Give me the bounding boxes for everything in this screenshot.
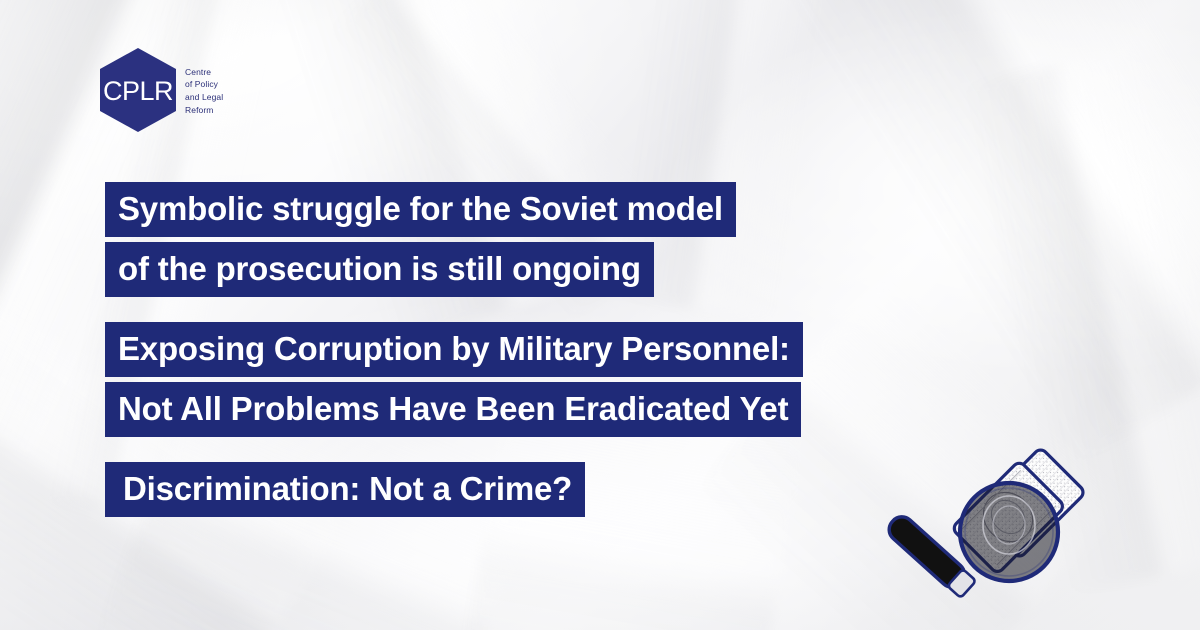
- logo-tagline-line: and Legal: [185, 91, 223, 104]
- hexagon-icon: CPLR: [100, 48, 176, 132]
- headline-line: Not All Problems Have Been Eradicated Ye…: [105, 382, 801, 437]
- headline-line: of the prosecution is still ongoing: [105, 242, 654, 297]
- headline-line: Exposing Corruption by Military Personne…: [105, 322, 803, 377]
- headline-stack: Symbolic struggle for the Soviet model o…: [105, 182, 803, 517]
- logo-tagline-line: of Policy: [185, 78, 223, 91]
- logo[interactable]: CPLR Centre of Policy and Legal Reform: [100, 48, 223, 132]
- headline-line: Discrimination: Not a Crime?: [105, 462, 585, 517]
- logo-tagline-line: Reform: [185, 104, 223, 117]
- headline-soviet-model[interactable]: Symbolic struggle for the Soviet model o…: [105, 182, 736, 297]
- social-card: CPLR Centre of Policy and Legal Reform S…: [0, 0, 1200, 630]
- headline-discrimination[interactable]: Discrimination: Not a Crime?: [105, 462, 585, 517]
- headline-exposing-corruption[interactable]: Exposing Corruption by Military Personne…: [105, 322, 803, 437]
- logo-monogram: CPLR: [100, 48, 176, 132]
- logo-tagline-line: Centre: [185, 66, 223, 79]
- magnifier-over-banknotes: [880, 425, 1110, 620]
- headline-line: Symbolic struggle for the Soviet model: [105, 182, 736, 237]
- logo-tagline: Centre of Policy and Legal Reform: [185, 64, 223, 116]
